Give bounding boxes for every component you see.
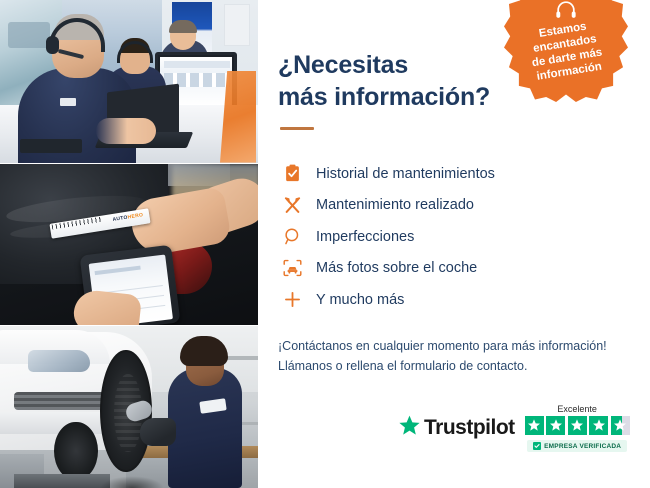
title-divider [280,127,314,130]
rating-label: Excelente [557,404,597,414]
plus-icon [278,290,306,309]
car-photo-frame-icon [278,259,306,277]
mechanic-body [168,368,242,488]
feature-list: Historial de mantenimientos Mantenimient… [278,158,650,316]
verified-check-icon [533,442,541,450]
star-5-partial [611,416,630,435]
star-1 [525,416,544,435]
promo-starburst-badge: Estamos encantados de darte más informac… [504,0,628,102]
trustpilot-logo: Trustpilot [398,415,515,442]
verified-label: EMPRESA VERIFICADA [544,443,621,450]
star-2 [546,416,565,435]
autohero-ruler-logo: AUTOHERO [112,212,143,223]
floor-shadow [100,476,164,488]
tools-cross-icon [278,196,306,215]
car-headlight [28,350,90,372]
clipboard-check-icon [278,164,306,183]
headset-icon [555,0,577,20]
page-title: ¿Necesitas más información? [278,50,528,113]
feature-label: Más fotos sobre el coche [316,261,477,276]
verified-company-badge: EMPRESA VERIFICADA [527,440,627,452]
information-banner: AUTOHERO [0,0,650,488]
car-inspection-ruler-tablet-photo: AUTOHERO [0,163,258,326]
trustpilot-rating-block: Trustpilot Excelente [398,404,630,452]
feature-label: Imperfecciones [316,230,414,245]
third-person-hair [169,20,197,33]
call-center-agents-photo [0,0,258,163]
mechanic-wheel-inspection-photo [0,325,258,488]
headline-line-1: ¿Necesitas [278,51,408,79]
headline-line-2: más información? [278,83,490,111]
star-3 [568,416,587,435]
rear-wheel [54,422,98,480]
front-agent-arm [96,118,156,144]
front-agent-name-badge [60,98,76,106]
wall-poster-secondary [224,4,250,46]
trustpilot-score-area: Excelente [525,404,630,452]
keyboard [20,139,82,153]
magnifier-icon [278,227,306,246]
feature-item-more-photos: Más fotos sobre el coche [278,253,650,285]
contact-copy: ¡Contáctanos en cualquier momento para m… [278,336,650,377]
content-column: ¿Necesitas más información? Estamos enca… [258,0,650,488]
feature-item-maintenance-history: Historial de mantenimientos [278,158,650,190]
trustpilot-wordmark: Trustpilot [424,416,515,440]
contact-line-2: Llámanos o rellena el formulario de cont… [278,356,650,377]
mechanic-hair [180,336,228,366]
star-4 [589,416,608,435]
feature-label: Historial de mantenimientos [316,167,495,182]
star-rating [525,416,630,435]
trustpilot-star-icon [398,415,421,442]
feature-label: Mantenimiento realizado [316,198,474,213]
feature-item-maintenance-done: Mantenimiento realizado [278,190,650,222]
mechanic-glove [140,418,176,446]
photo-column: AUTOHERO [0,0,258,488]
car-lift-arm [14,474,110,488]
front-agent-headset-earcup [46,36,59,54]
car-bumper [0,412,114,434]
contact-line-1: ¡Contáctanos en cualquier momento para m… [278,336,650,357]
feature-label: Y mucho más [316,293,404,308]
car-grille [14,392,110,410]
feature-item-much-more: Y mucho más [278,284,650,316]
feature-item-imperfections: Imperfecciones [278,221,650,253]
